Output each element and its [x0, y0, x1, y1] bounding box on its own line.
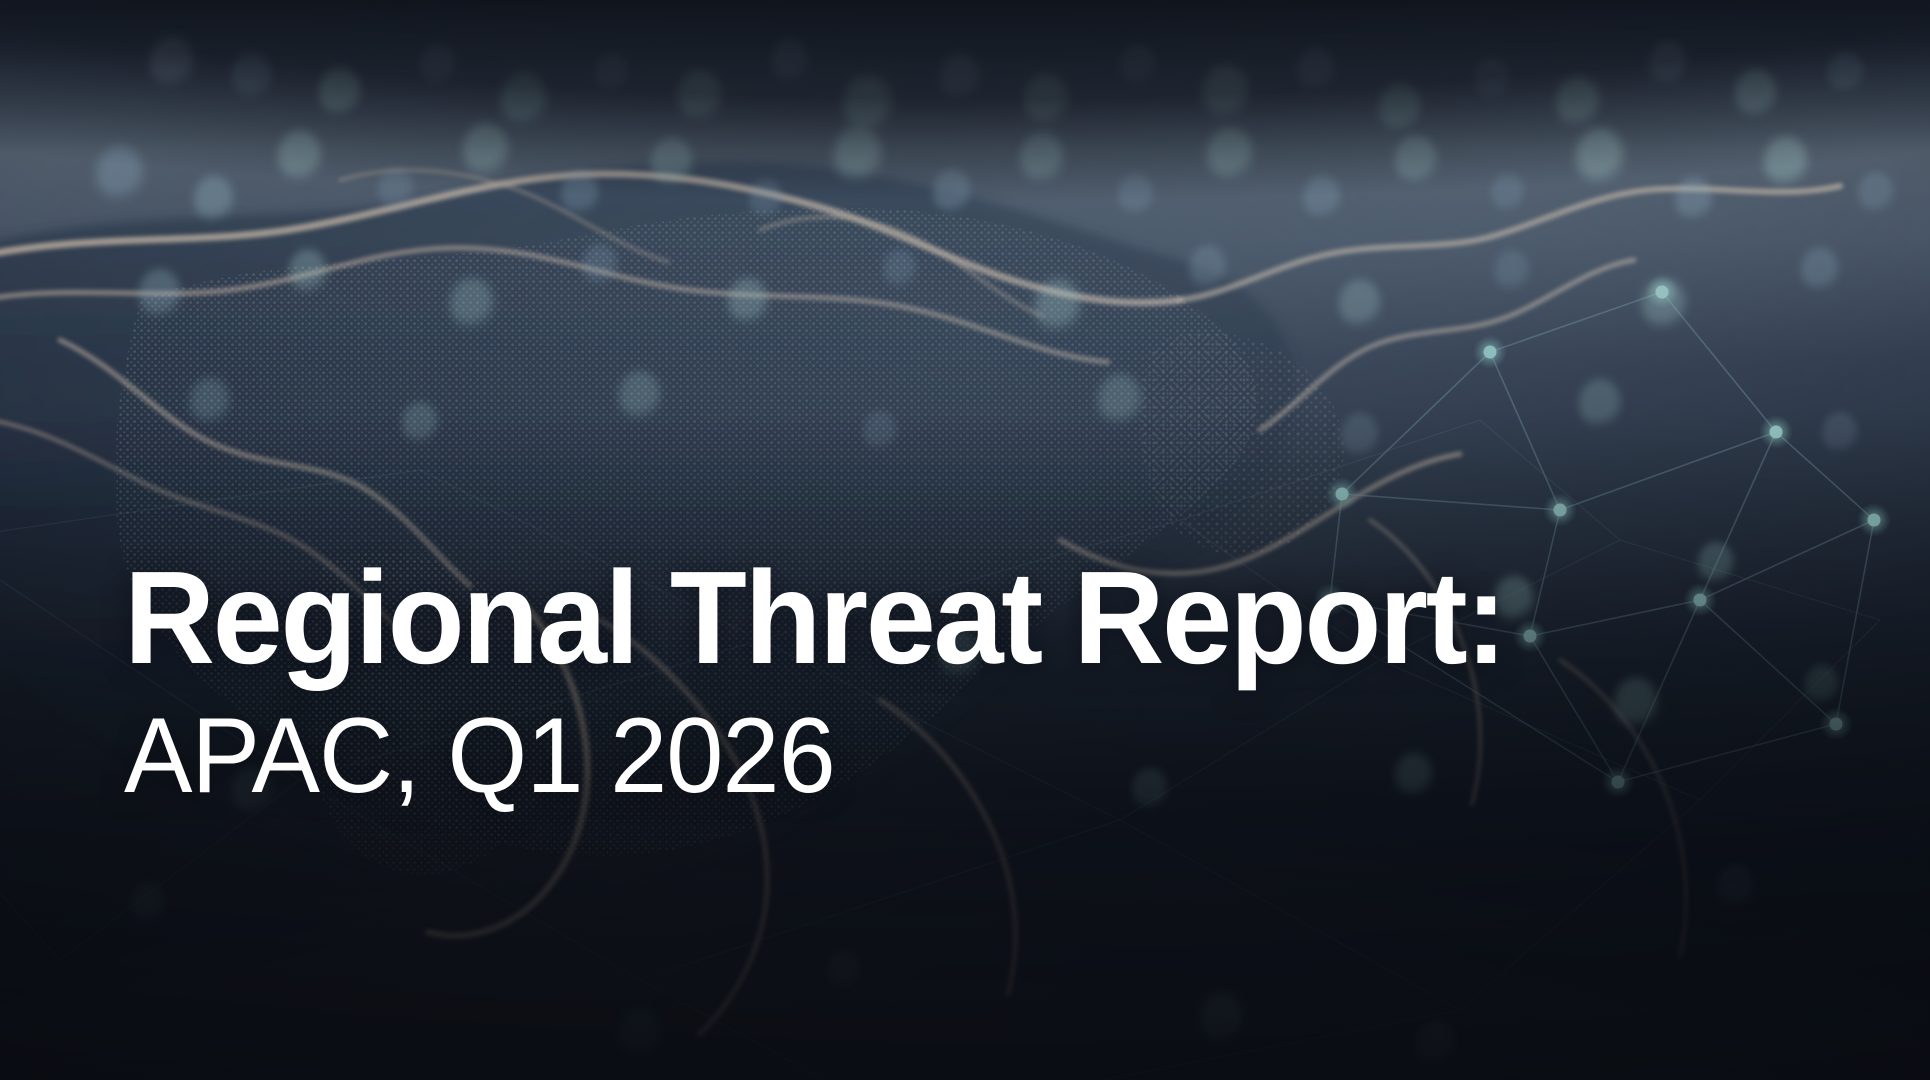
network-node-glow: [1683, 583, 1717, 617]
bokeh-light: [1200, 992, 1244, 1044]
network-node: [1868, 514, 1881, 527]
hero-banner: Regional Threat Report: APAC, Q1 2026: [0, 0, 1930, 1080]
network-node: [1694, 594, 1707, 607]
network-edge: [1776, 432, 1874, 520]
bokeh-light: [749, 179, 783, 219]
network-node: [1656, 286, 1669, 299]
bokeh-light: [1822, 412, 1858, 454]
bokeh-light: [933, 169, 971, 214]
bokeh-light: [827, 951, 861, 991]
network-node-glow: [1857, 503, 1891, 537]
bokeh-light: [139, 269, 181, 319]
network-node-glow: [1819, 707, 1853, 741]
bokeh-light: [1576, 128, 1624, 185]
background-gradient: [0, 0, 1930, 1080]
bokeh-light: [1203, 65, 1249, 119]
network-node: [1554, 504, 1567, 517]
bokeh-light: [1858, 172, 1894, 214]
bokeh-light: [1341, 413, 1379, 458]
bokeh-light: [883, 249, 917, 289]
bokeh-light: [194, 176, 234, 223]
network-node-glow: [1759, 415, 1793, 449]
world-map-artwork: [0, 0, 1930, 1080]
network-edge: [1700, 520, 1874, 600]
network-edge: [1700, 600, 1836, 724]
network-edge: [1342, 352, 1490, 494]
bokeh-light: [678, 70, 722, 122]
network-node-glow: [1473, 335, 1507, 369]
bokeh-light: [190, 378, 230, 425]
network-edge: [1342, 494, 1560, 510]
bokeh-light: [595, 53, 629, 93]
bokeh-light: [1098, 374, 1142, 426]
network-node: [1484, 346, 1497, 359]
bokeh-light: [582, 244, 618, 286]
network-node: [1770, 426, 1783, 439]
network-edge: [1490, 292, 1662, 352]
bokeh-light: [232, 52, 272, 99]
bokeh-light: [1120, 44, 1156, 86]
bokeh-light: [1474, 58, 1510, 100]
bokeh-light: [1118, 174, 1154, 216]
network-node-glow: [1543, 493, 1577, 527]
page-subtitle: APAC, Q1 2026: [124, 702, 1622, 809]
bokeh-light: [834, 126, 882, 183]
background-haze: [0, 0, 1930, 1080]
bokeh-light: [1735, 69, 1777, 119]
bokeh-light: [378, 168, 414, 210]
bokeh-light: [1379, 83, 1421, 133]
bokeh-light: [1491, 173, 1525, 213]
bokeh-light: [96, 146, 144, 203]
bokeh-light: [1417, 1021, 1455, 1066]
bokeh-light: [130, 882, 166, 924]
bokeh-light: [150, 36, 194, 88]
title-block: Regional Threat Report: APAC, Q1 2026: [124, 556, 1684, 809]
bokeh-light: [450, 278, 494, 330]
bokeh-light: [1189, 245, 1227, 290]
bokeh-light: [1801, 247, 1839, 292]
network-edge: [1836, 520, 1874, 724]
bokeh-lights: [0, 0, 1930, 1080]
bokeh-light: [1649, 41, 1687, 86]
bokeh-light: [1698, 542, 1734, 584]
globe-curvature-shadow: [0, 0, 1930, 1080]
bokeh-light: [1675, 177, 1713, 222]
bokeh-light: [1024, 74, 1068, 126]
bokeh-light: [844, 76, 892, 133]
bokeh-light: [1718, 866, 1754, 908]
bokeh-light: [1020, 132, 1064, 184]
bokeh-light: [1494, 250, 1530, 292]
network-edge: [1700, 432, 1776, 600]
network-node: [1336, 488, 1349, 501]
network-node-glow: [1325, 477, 1359, 511]
bokeh-light: [1395, 135, 1437, 185]
bokeh-light: [1764, 136, 1808, 188]
bokeh-light: [1303, 175, 1341, 220]
network-edge: [1490, 352, 1560, 510]
bokeh-light: [1556, 76, 1600, 128]
bokeh-light: [1207, 127, 1253, 181]
bokeh-light: [1035, 279, 1081, 333]
network-node-glow: [1645, 275, 1679, 309]
bokeh-light: [420, 44, 456, 86]
page-title: Regional Threat Report:: [124, 556, 1614, 680]
network-edge: [1662, 292, 1776, 432]
background-vignette: [0, 0, 1930, 1080]
bokeh-light: [619, 371, 661, 421]
bokeh-light: [402, 402, 438, 444]
bokeh-light: [1297, 47, 1335, 92]
network-node: [1830, 718, 1843, 731]
bokeh-light: [771, 39, 809, 84]
bokeh-light: [561, 171, 599, 216]
bokeh-light: [1642, 278, 1686, 330]
text-contrast-scrim: [0, 0, 1930, 1080]
bokeh-light: [1805, 665, 1839, 705]
bokeh-light: [463, 123, 509, 177]
bokeh-light: [1579, 379, 1621, 429]
bokeh-light: [319, 67, 361, 117]
bokeh-light: [651, 137, 693, 187]
bokeh-light: [289, 249, 327, 294]
bokeh-light: [1828, 52, 1864, 94]
bokeh-light: [728, 278, 768, 325]
bokeh-light: [620, 1008, 660, 1055]
bokeh-light: [1339, 279, 1381, 329]
network-edge: [1560, 432, 1776, 510]
bokeh-light: [863, 411, 897, 451]
bokeh-light: [501, 73, 547, 127]
bokeh-light: [278, 130, 322, 182]
bokeh-light: [940, 54, 980, 101]
